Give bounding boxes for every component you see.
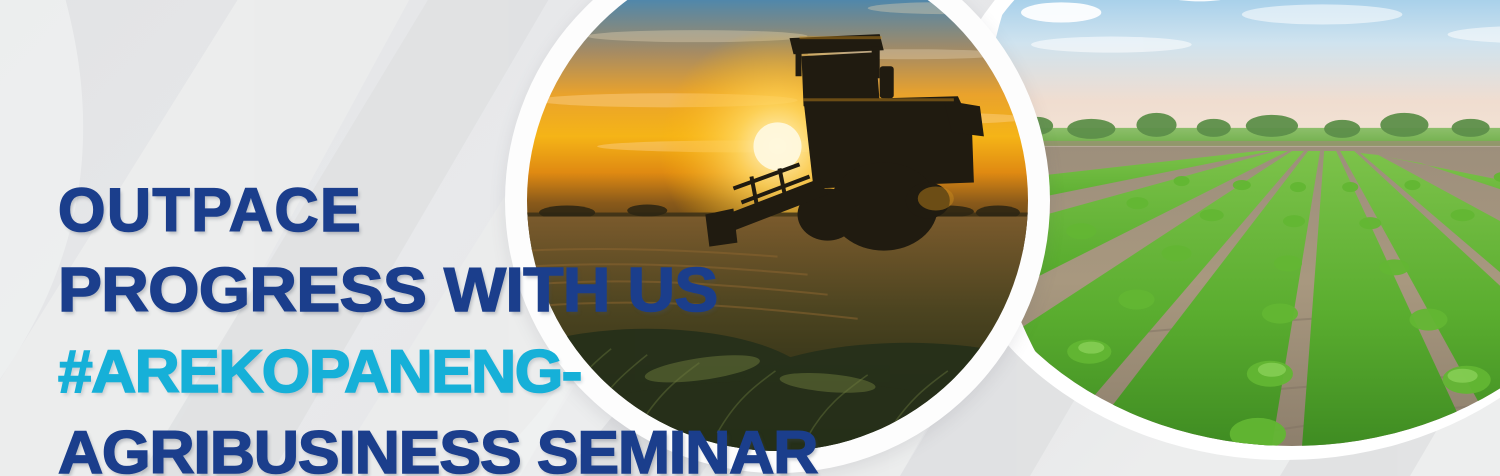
headline-line-agribusiness-seminar: AGRIBUSINESS SEMINAR (58, 423, 817, 476)
headline-line-outpace: OUTPACE (58, 180, 788, 241)
headline-line-progress-with-us: PROGRESS WITH US (58, 260, 832, 322)
headline-line-hashtag-arekopaneng: #AREKOPANENG- (58, 342, 817, 402)
headline-block: OUTPACE PROGRESS WITH US #AREKOPANENG- A… (58, 180, 788, 476)
agribusiness-seminar-banner: OUTPACE PROGRESS WITH US #AREKOPANENG- A… (0, 0, 1500, 476)
